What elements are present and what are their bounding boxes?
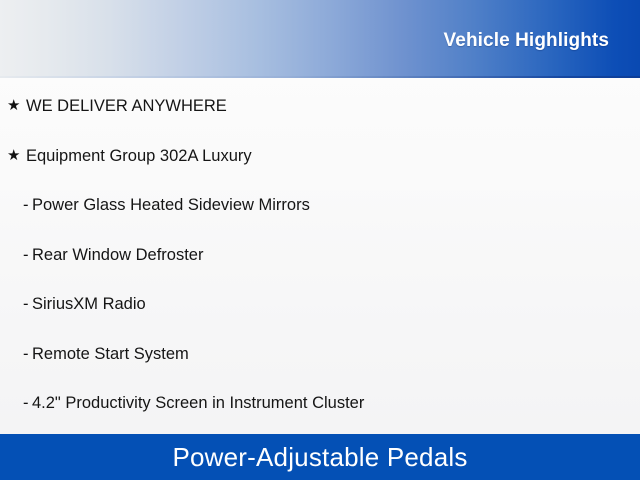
list-item: - Power Glass Heated Sideview Mirrors: [0, 194, 640, 244]
footer-banner: Power-Adjustable Pedals: [0, 434, 640, 480]
star-bullet-icon: ★: [7, 95, 26, 117]
header-banner: Vehicle Highlights: [0, 0, 640, 78]
list-item-label: 4.2" Productivity Screen in Instrument C…: [32, 392, 364, 414]
dash-bullet-icon: -: [23, 293, 32, 315]
dash-bullet-icon: -: [23, 244, 32, 266]
list-item-label: Remote Start System: [32, 343, 189, 365]
list-item: ★ WE DELIVER ANYWHERE: [0, 95, 640, 145]
footer-headline: Power-Adjustable Pedals: [172, 442, 467, 472]
highlights-content: ★ WE DELIVER ANYWHERE ★ Equipment Group …: [0, 78, 640, 434]
list-item-label: WE DELIVER ANYWHERE: [26, 95, 227, 117]
dash-bullet-icon: -: [23, 343, 32, 365]
dash-bullet-icon: -: [23, 392, 32, 414]
list-item: - Remote Start System: [0, 343, 640, 393]
vehicle-highlights-slide: Vehicle Highlights ★ WE DELIVER ANYWHERE…: [0, 0, 640, 480]
list-item-label: Equipment Group 302A Luxury: [26, 145, 252, 167]
list-item: - SiriusXM Radio: [0, 293, 640, 343]
list-item-label: Rear Window Defroster: [32, 244, 203, 266]
dash-bullet-icon: -: [23, 194, 32, 216]
list-item-label: SiriusXM Radio: [32, 293, 146, 315]
page-title: Vehicle Highlights: [444, 28, 609, 54]
star-bullet-icon: ★: [7, 145, 26, 167]
feature-list: ★ WE DELIVER ANYWHERE ★ Equipment Group …: [0, 95, 640, 442]
list-item: ★ Equipment Group 302A Luxury: [0, 145, 640, 195]
list-item: - Rear Window Defroster: [0, 244, 640, 294]
list-item-label: Power Glass Heated Sideview Mirrors: [32, 194, 310, 216]
